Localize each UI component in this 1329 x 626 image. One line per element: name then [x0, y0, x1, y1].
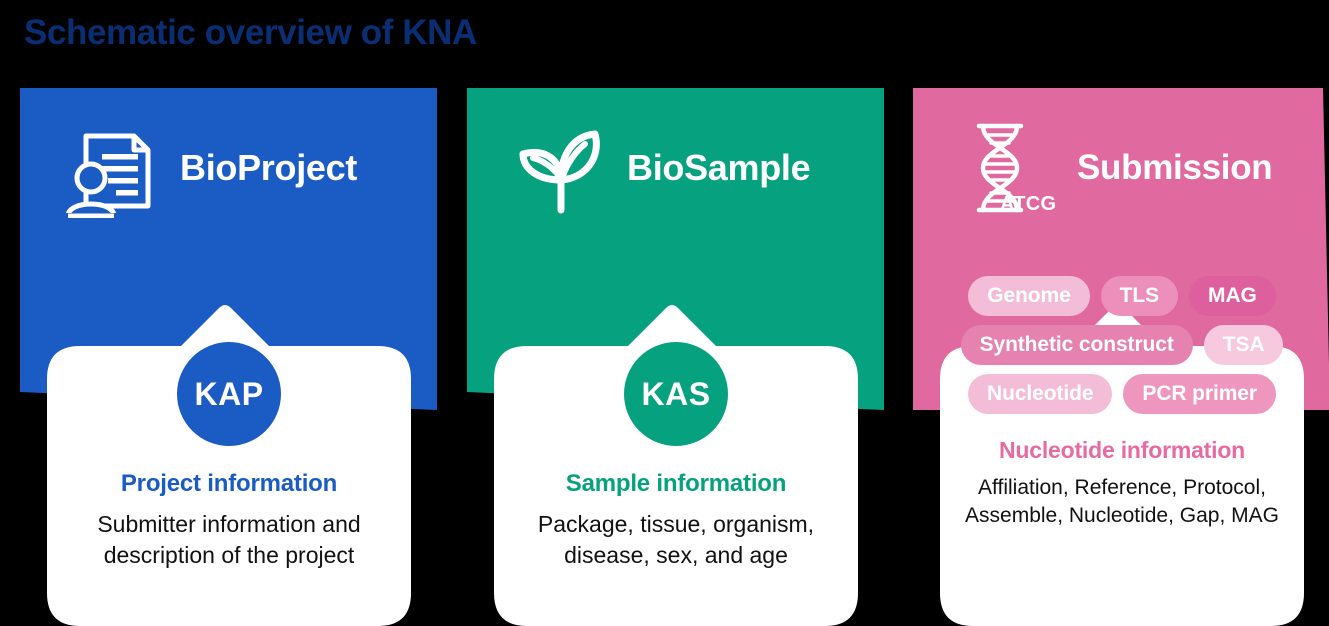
- badge-circle: KAS: [624, 342, 728, 446]
- card-body: Package, tissue, organism, disease, sex,…: [494, 509, 858, 570]
- column-biosample: BioSample KAS Sample information Package…: [467, 88, 884, 626]
- banner-label: BioProject: [180, 147, 357, 189]
- badge-circle: KAP: [177, 342, 281, 446]
- tag-list: Genome TLS MAG Synthetic construct TSA N…: [940, 276, 1304, 414]
- dna-icon-caption: ATCG: [1000, 193, 1056, 216]
- diagram-canvas: Schematic overview of KNA: [0, 0, 1329, 626]
- card-heading: Sample information: [494, 470, 858, 498]
- tag-synthetic-construct[interactable]: Synthetic construct: [961, 325, 1193, 365]
- tag-genome[interactable]: Genome: [968, 276, 1089, 316]
- card-biosample: KAS Sample information Package, tissue, …: [494, 260, 858, 626]
- dna-helix-icon: ATCG: [953, 115, 1061, 220]
- tag-mag[interactable]: MAG: [1189, 276, 1276, 316]
- card-body: Submitter information and description of…: [47, 509, 411, 570]
- tag-tsa[interactable]: TSA: [1204, 325, 1284, 365]
- banner-label: BioSample: [627, 147, 810, 189]
- card-submission: Genome TLS MAG Synthetic construct TSA N…: [940, 260, 1304, 626]
- card-content: Genome TLS MAG Synthetic construct TSA N…: [940, 260, 1304, 626]
- banner-header-bioproject: BioProject: [20, 110, 437, 225]
- card-body: Affiliation, Reference, Protocol, Assemb…: [940, 474, 1304, 529]
- card-content: KAP Project information Submitter inform…: [47, 260, 411, 626]
- tag-nucleotide[interactable]: Nucleotide: [968, 374, 1112, 414]
- seedling-icon: [507, 115, 615, 220]
- card-content: KAS Sample information Package, tissue, …: [494, 260, 858, 626]
- banner-header-biosample: BioSample: [467, 110, 884, 225]
- card-heading: Nucleotide information: [940, 437, 1304, 464]
- tag-tls[interactable]: TLS: [1101, 276, 1178, 316]
- document-person-icon: [60, 115, 168, 220]
- banner-label: Submission: [1077, 148, 1272, 188]
- column-bioproject: BioProject KAP Project information Submi…: [20, 88, 437, 626]
- banner-header-submission: ATCG Submission: [913, 110, 1329, 225]
- card-bioproject: KAP Project information Submitter inform…: [47, 260, 411, 626]
- column-submission: ATCG Submission Genome TLS MAG Synthetic…: [913, 88, 1329, 626]
- card-heading: Project information: [47, 470, 411, 498]
- tag-pcr-primer[interactable]: PCR primer: [1123, 374, 1276, 414]
- page-title: Schematic overview of KNA: [24, 13, 477, 53]
